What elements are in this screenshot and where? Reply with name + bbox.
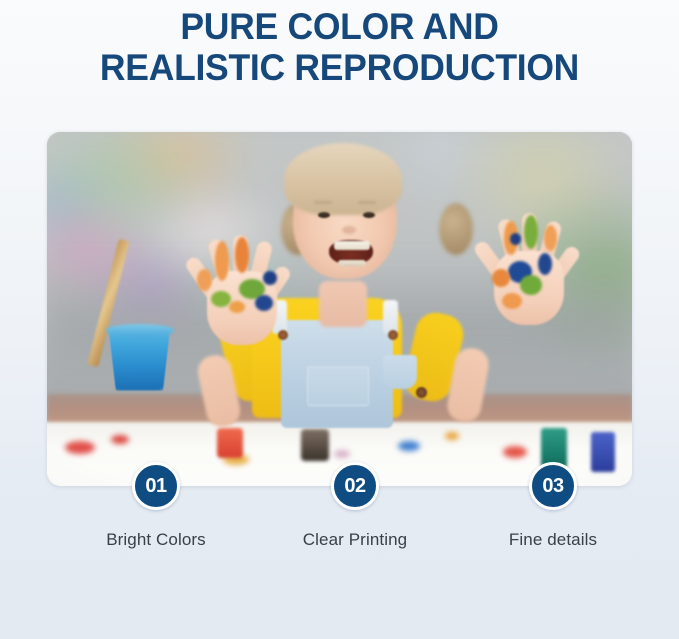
feature-list: 01 Bright Colors 02 Clear Printing 03 Fi… <box>47 462 632 557</box>
feature-badge-2: 02 <box>331 462 379 510</box>
page-title-line-2: REALISTIC REPRODUCTION <box>14 47 666 88</box>
feature-badge-1: 01 <box>132 462 180 510</box>
page-title: PURE COLOR AND REALISTIC REPRODUCTION <box>0 0 679 88</box>
feature-label-2: Clear Printing <box>260 530 450 550</box>
feature-item-2: 02 Clear Printing <box>260 462 450 550</box>
feature-label-3: Fine details <box>458 530 648 550</box>
feature-badge-3: 03 <box>529 462 577 510</box>
feature-item-1: 01 Bright Colors <box>61 462 251 550</box>
page-title-line-1: PURE COLOR AND <box>14 6 666 47</box>
photo-vignette-overlay <box>47 132 632 486</box>
feature-item-3: 03 Fine details <box>458 462 648 550</box>
promo-page: { "page": { "background_top_color": "#fa… <box>0 0 679 639</box>
feature-label-1: Bright Colors <box>61 530 251 550</box>
hero-photo <box>47 132 632 486</box>
